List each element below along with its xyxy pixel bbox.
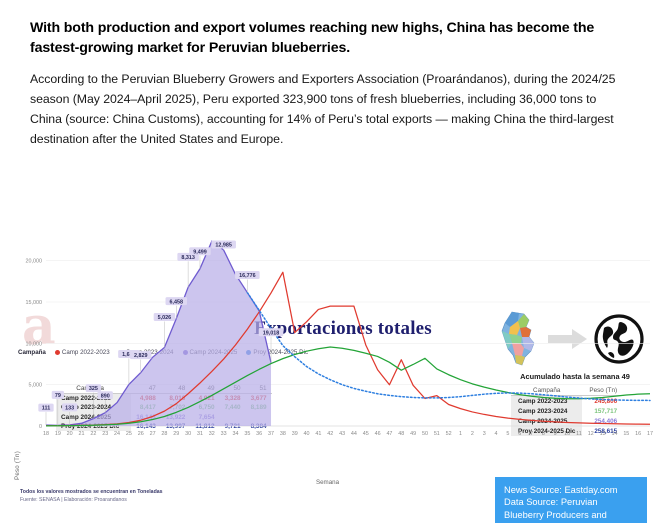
svg-text:48: 48 — [398, 431, 404, 437]
footnote-line-1: Todos los valores mostrados se encuentra… — [20, 488, 163, 496]
svg-text:49: 49 — [410, 431, 416, 437]
svg-text:133: 133 — [65, 406, 74, 412]
svg-text:5: 5 — [506, 431, 509, 437]
svg-text:32: 32 — [209, 431, 215, 437]
svg-text:37: 37 — [268, 431, 274, 437]
svg-text:18: 18 — [43, 431, 49, 437]
svg-text:3: 3 — [483, 431, 486, 437]
svg-text:35: 35 — [244, 431, 250, 437]
svg-text:52: 52 — [446, 431, 452, 437]
svg-text:5,000: 5,000 — [29, 383, 43, 389]
svg-text:21: 21 — [79, 431, 85, 437]
svg-text:2: 2 — [471, 431, 474, 437]
svg-text:13: 13 — [600, 431, 606, 437]
svg-text:40: 40 — [304, 431, 310, 437]
svg-text:1: 1 — [459, 431, 462, 437]
svg-text:16,776: 16,776 — [239, 273, 256, 279]
x-axis-title: Semana — [0, 479, 655, 486]
svg-text:9,499: 9,499 — [193, 249, 207, 255]
svg-text:6: 6 — [518, 431, 521, 437]
article-headline: With both production and export volumes … — [30, 18, 627, 58]
svg-text:23: 23 — [102, 431, 108, 437]
svg-text:6,458: 6,458 — [170, 299, 184, 305]
svg-text:325: 325 — [89, 386, 98, 392]
article-body: According to the Peruvian Blueberry Grow… — [30, 70, 627, 150]
svg-text:42: 42 — [327, 431, 333, 437]
svg-text:16: 16 — [635, 431, 641, 437]
article-block: With both production and export volumes … — [0, 0, 655, 150]
svg-text:47: 47 — [386, 431, 392, 437]
svg-text:38: 38 — [280, 431, 286, 437]
svg-text:12: 12 — [588, 431, 594, 437]
svg-text:34: 34 — [232, 431, 238, 437]
svg-text:5,026: 5,026 — [158, 315, 172, 321]
chart-footnote: Todos los valores mostrados se encuentra… — [20, 488, 163, 505]
svg-text:22: 22 — [90, 431, 96, 437]
svg-text:10: 10 — [564, 431, 570, 437]
svg-text:15: 15 — [623, 431, 629, 437]
svg-text:44: 44 — [351, 431, 357, 437]
svg-text:8: 8 — [542, 431, 545, 437]
svg-text:51: 51 — [434, 431, 440, 437]
svg-text:79: 79 — [55, 393, 61, 399]
svg-text:27: 27 — [150, 431, 156, 437]
svg-text:2,829: 2,829 — [134, 353, 148, 359]
svg-text:29: 29 — [173, 431, 179, 437]
svg-text:41: 41 — [315, 431, 321, 437]
svg-text:25: 25 — [126, 431, 132, 437]
svg-text:28: 28 — [161, 431, 167, 437]
svg-text:43: 43 — [339, 431, 345, 437]
svg-text:39: 39 — [292, 431, 298, 437]
footnote-line-2: Fuente: SENASA | Elaboración: Proarandan… — [20, 496, 163, 504]
svg-text:7: 7 — [530, 431, 533, 437]
svg-text:890: 890 — [101, 393, 110, 399]
svg-text:8,313: 8,313 — [181, 255, 195, 261]
svg-text:20: 20 — [67, 431, 73, 437]
svg-text:4: 4 — [495, 431, 498, 437]
svg-text:111: 111 — [42, 406, 50, 412]
svg-text:24: 24 — [114, 431, 120, 437]
svg-text:33: 33 — [221, 431, 227, 437]
svg-text:12,985: 12,985 — [215, 243, 232, 249]
svg-text:15,000: 15,000 — [26, 300, 43, 306]
svg-text:17: 17 — [647, 431, 653, 437]
svg-text:26: 26 — [138, 431, 144, 437]
svg-text:36: 36 — [256, 431, 262, 437]
svg-text:31: 31 — [197, 431, 203, 437]
svg-text:46: 46 — [375, 431, 381, 437]
exports-area-chart: 05,00010,00015,00020,0001819202122232425… — [0, 236, 655, 486]
svg-text:10,000: 10,000 — [26, 341, 43, 347]
svg-text:9: 9 — [554, 431, 557, 437]
svg-text:14: 14 — [611, 431, 617, 437]
svg-text:0: 0 — [39, 424, 42, 430]
svg-text:20,000: 20,000 — [26, 259, 43, 265]
svg-text:30: 30 — [185, 431, 191, 437]
svg-text:50: 50 — [422, 431, 428, 437]
infographic-panel: a Exportaciones totales Campaña Camp 202… — [0, 150, 655, 523]
svg-text:45: 45 — [363, 431, 369, 437]
svg-text:19,018: 19,018 — [263, 330, 280, 336]
svg-text:19: 19 — [55, 431, 61, 437]
svg-text:11: 11 — [576, 431, 582, 437]
